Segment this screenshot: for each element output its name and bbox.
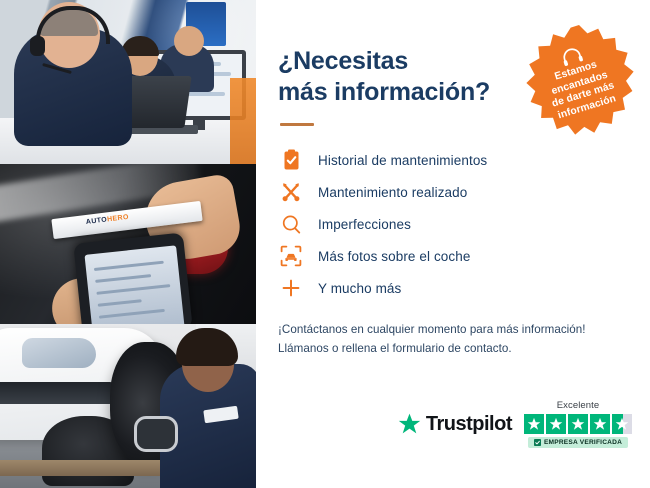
mechanic-glove [134, 416, 178, 452]
feature-item-more-photos: Más fotos sobre el coche [278, 240, 628, 272]
feature-label: Y mucho más [318, 281, 401, 296]
autohero-brand-label: AUTOHERO [86, 214, 130, 226]
contact-text: ¡Contáctanos en cualquier momento para m… [278, 320, 628, 358]
contact-line-1: ¡Contáctanos en cualquier momento para m… [278, 323, 586, 336]
car-scan-icon [278, 243, 304, 269]
verified-check-icon [534, 439, 541, 446]
verified-label: EMPRESA VERIFICADA [544, 439, 622, 446]
star-2 [546, 414, 566, 434]
title-line-2: más información? [278, 78, 490, 106]
call-center-agents-photo [0, 0, 256, 164]
feature-item-much-more: Y mucho más [278, 272, 628, 304]
star-4 [590, 414, 610, 434]
trustpilot-logo[interactable]: Trustpilot [398, 413, 512, 436]
feature-list: Historial de mantenimientos M [278, 144, 628, 304]
promo-badge: Estamos encantados de darte más informac… [522, 24, 636, 138]
agent-back-head [174, 26, 204, 56]
orange-equipment [230, 78, 256, 164]
star-3 [568, 414, 588, 434]
contact-line-2: Llámanos o rellena el formulario de cont… [278, 342, 512, 355]
trustpilot-block[interactable]: Trustpilot Excelente [398, 400, 632, 448]
inspection-tablet [73, 233, 192, 324]
feature-label: Mantenimiento realizado [318, 185, 467, 200]
headset-earcup [30, 36, 45, 56]
feature-item-maintenance-history: Historial de mantenimientos [278, 144, 628, 176]
photo-column: AUTOHERO [0, 0, 256, 488]
feature-label: Historial de mantenimientos [318, 153, 487, 168]
content-panel: ¿Necesitas más información? Historial de… [256, 0, 650, 488]
workshop-mechanic-photo [0, 324, 256, 488]
trustpilot-rating-label: Excelente [557, 400, 600, 411]
information-banner: AUTOHERO [0, 0, 650, 488]
plus-icon [278, 275, 304, 301]
feature-label: Más fotos sobre el coche [318, 249, 470, 264]
page-title: ¿Necesitas más información? [278, 46, 508, 107]
car-inspection-photo: AUTOHERO [0, 164, 256, 324]
trustpilot-rating: Excelente [524, 400, 632, 448]
trustpilot-star-icon [398, 413, 421, 435]
verified-company-badge: EMPRESA VERIFICADA [528, 437, 628, 448]
tools-cross-icon [278, 179, 304, 205]
star-rating [524, 414, 632, 434]
magnifier-icon [278, 211, 304, 237]
car-grille [0, 382, 114, 404]
tablet-screen [84, 245, 184, 324]
trustpilot-brand-name: Trustpilot [426, 413, 512, 436]
clipboard-check-icon [278, 147, 304, 173]
star-5-partial [612, 414, 632, 434]
car-headlight [22, 338, 96, 368]
title-line-1: ¿Necesitas [278, 47, 408, 75]
feature-item-imperfections: Imperfecciones [278, 208, 628, 240]
star-1 [524, 414, 544, 434]
title-divider [280, 123, 314, 126]
feature-item-maintenance-done: Mantenimiento realizado [278, 176, 628, 208]
feature-label: Imperfecciones [318, 217, 411, 232]
